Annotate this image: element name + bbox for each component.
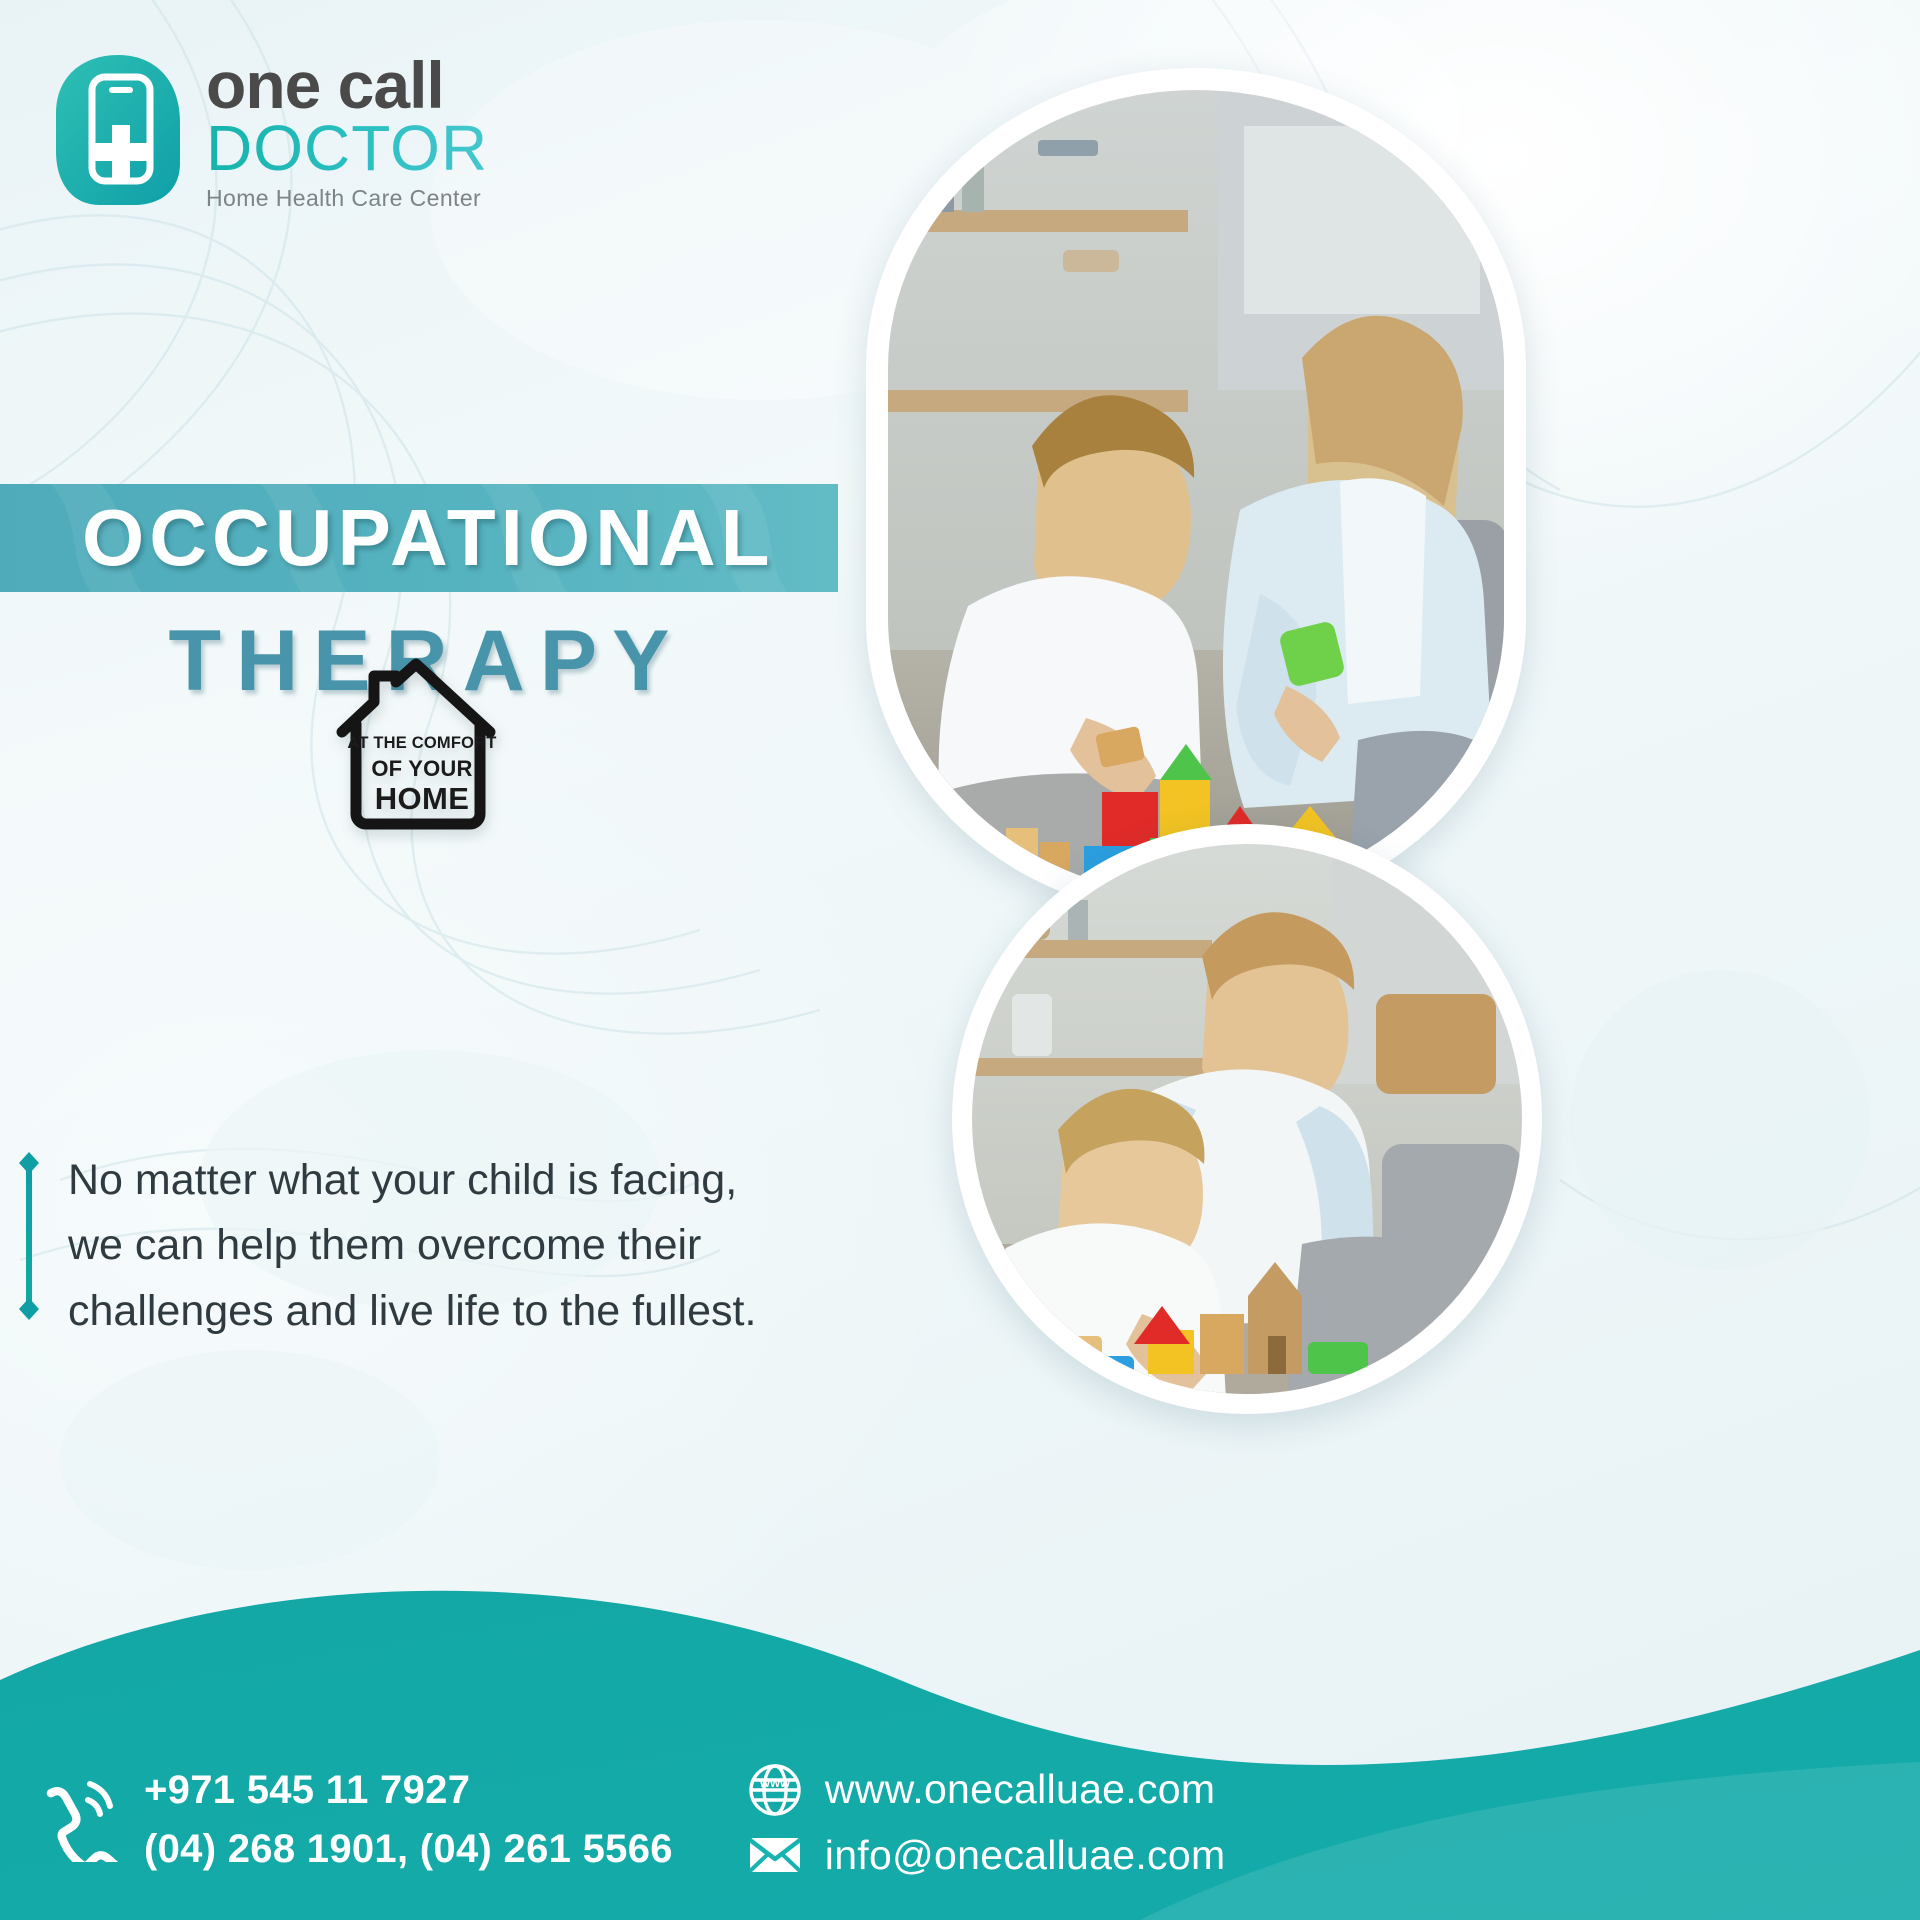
logo-tagline: Home Health Care Center bbox=[206, 185, 488, 212]
phone-ringing-icon bbox=[44, 1778, 118, 1862]
badge-line-3: HOME bbox=[375, 781, 470, 816]
phone-medical-cross-icon bbox=[52, 51, 184, 209]
footer-website-row[interactable]: www www.onecalluae.com bbox=[747, 1762, 1226, 1818]
house-outline-icon: AT THE COMFORT OF YOUR HOME bbox=[312, 636, 520, 846]
accent-bar bbox=[14, 1148, 44, 1344]
footer-email-row[interactable]: info@onecalluae.com bbox=[747, 1832, 1226, 1879]
badge-line-2: OF YOUR bbox=[371, 756, 472, 781]
therapy-photo-top bbox=[866, 68, 1526, 918]
blurb-block: No matter what your child is facing, we … bbox=[14, 1148, 834, 1344]
logo-name-primary: one call bbox=[206, 54, 488, 117]
footer-email[interactable]: info@onecalluae.com bbox=[825, 1832, 1226, 1879]
footer-phone-line-2[interactable]: (04) 268 1901, (04) 261 5566 bbox=[144, 1827, 673, 1872]
footer-phone-group: +971 545 11 7927 (04) 268 1901, (04) 261… bbox=[44, 1768, 673, 1872]
blurb-text: No matter what your child is facing, we … bbox=[68, 1148, 756, 1344]
logo-name-secondary: DOCTOR bbox=[206, 117, 488, 180]
footer-web-group: www www.onecalluae.com info@onecalluae.c… bbox=[747, 1762, 1226, 1879]
blurb-line-1: No matter what your child is facing, bbox=[68, 1148, 756, 1213]
blurb-line-3: challenges and live life to the fullest. bbox=[68, 1279, 756, 1344]
globe-www-icon: www bbox=[747, 1762, 803, 1818]
therapist-and-boy-with-building-blocks bbox=[888, 90, 1504, 896]
footer-phone-line-1[interactable]: +971 545 11 7927 bbox=[144, 1768, 673, 1813]
footer-contact-bar: +971 545 11 7927 (04) 268 1901, (04) 261… bbox=[0, 1720, 1920, 1920]
badge-line-1: AT THE COMFORT bbox=[347, 734, 496, 752]
footer-website[interactable]: www.onecalluae.com bbox=[825, 1766, 1216, 1813]
blurb-line-2: we can help them overcome their bbox=[68, 1213, 756, 1278]
therapist-comforting-boy-playing-blocks bbox=[972, 844, 1522, 1394]
headline-banner: OCCUPATIONAL bbox=[0, 484, 838, 592]
brand-logo: one call DOCTOR Home Health Care Center bbox=[52, 48, 488, 212]
comfort-of-home-badge: AT THE COMFORT OF YOUR HOME bbox=[312, 636, 520, 846]
envelope-icon bbox=[747, 1833, 803, 1877]
svg-text:www: www bbox=[759, 1775, 791, 1790]
therapy-photo-bottom bbox=[952, 824, 1542, 1414]
page-title-line1: OCCUPATIONAL bbox=[0, 492, 775, 584]
